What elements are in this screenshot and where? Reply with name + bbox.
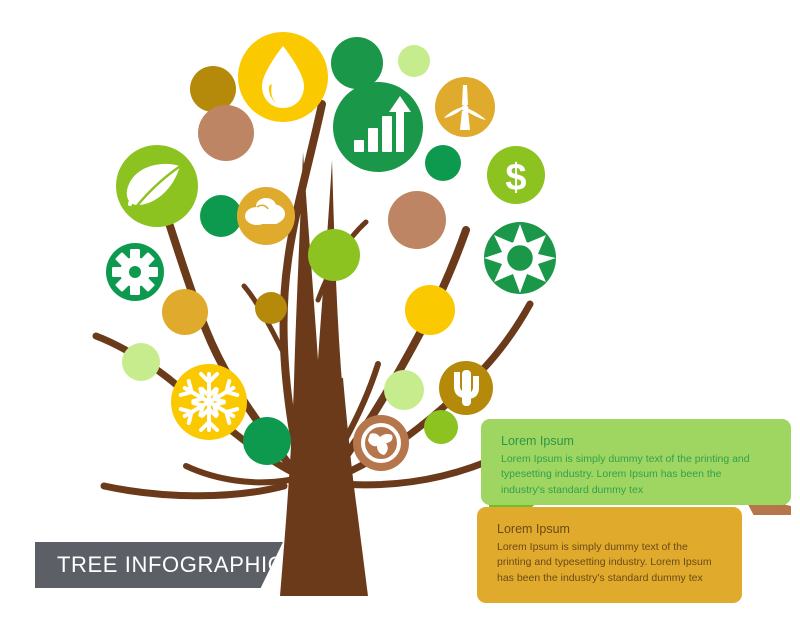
- callout-box-gold[interactable]: Lorem Ipsum Lorem Ipsum is simply dummy …: [477, 507, 742, 603]
- bar-chart-circle: [333, 82, 423, 172]
- callout-green-body: Lorem Ipsum is simply dummy text of the …: [501, 452, 763, 499]
- circle-green-small-2: [425, 145, 461, 181]
- circle-pale-green: [398, 45, 430, 77]
- callout-box-green[interactable]: Lorem Ipsum Lorem Ipsum is simply dummy …: [481, 419, 791, 505]
- cactus-badge[interactable]: [439, 361, 493, 415]
- circle-green-small: [200, 195, 242, 237]
- circle-dark-gold: [190, 66, 236, 112]
- leaf-badge[interactable]: [116, 145, 198, 227]
- circle-olive: [308, 229, 360, 281]
- branch-left-low: [186, 466, 289, 482]
- circle-olive-2: [424, 410, 458, 444]
- title-banner: TREE INFOGRAPHIC: [35, 542, 283, 588]
- circle-pale-green-2: [122, 343, 160, 381]
- globe-badge[interactable]: [353, 415, 409, 471]
- dollar-sign-icon: $: [505, 157, 526, 199]
- sun-badge[interactable]: [484, 222, 556, 294]
- circle-tan: [198, 105, 254, 161]
- gear-icon: [112, 249, 158, 295]
- gear-badge[interactable]: [106, 243, 164, 301]
- dollar-badge[interactable]: $: [487, 146, 545, 204]
- cloud-badge[interactable]: [237, 187, 295, 245]
- circle-yellow: [405, 285, 455, 335]
- bar-chart-growth-badge[interactable]: [333, 82, 423, 172]
- circle-green: [331, 37, 383, 89]
- circle-tan-2: [388, 191, 446, 249]
- wind-turbine-badge[interactable]: [435, 77, 495, 137]
- callout-green-title: Lorem Ipsum: [501, 433, 773, 450]
- callout-gold-body: Lorem Ipsum is simply dummy text of the …: [497, 540, 724, 587]
- circle-green-2: [243, 417, 291, 465]
- circle-dark-gold-2: [255, 292, 287, 324]
- water-drop-badge[interactable]: [238, 32, 328, 122]
- page-title: TREE INFOGRAPHIC: [35, 552, 284, 578]
- callout-gold-title: Lorem Ipsum: [497, 521, 724, 538]
- circle-pale-green-3: [384, 370, 424, 410]
- infographic-canvas: $: [0, 0, 800, 623]
- circle-gold: [162, 289, 208, 335]
- snowflake-badge[interactable]: [171, 364, 247, 440]
- branch-far-left-low: [104, 486, 284, 496]
